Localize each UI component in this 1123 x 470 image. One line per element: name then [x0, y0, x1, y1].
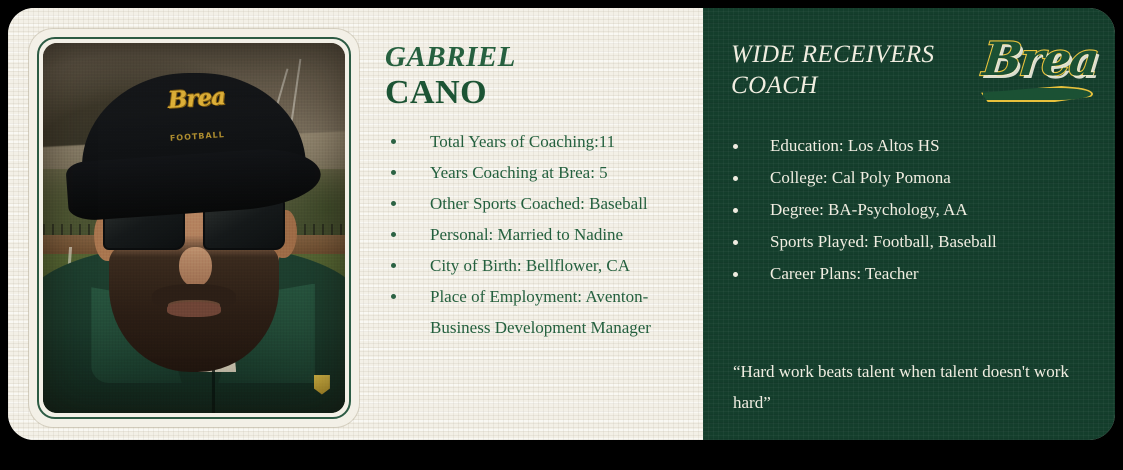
education-details-list: Education: Los Altos HS College: Cal Pol…	[725, 130, 1085, 290]
left-panel: Brea FOOTBALL GABRIEL CANO Total Years o…	[8, 8, 703, 440]
list-item: Other Sports Coached: Baseball	[385, 188, 690, 219]
coach-name-and-details: GABRIEL CANO Total Years of Coaching:11 …	[385, 42, 690, 343]
brea-logo-tail-icon	[981, 86, 1093, 102]
brea-logo: Brea	[979, 36, 1097, 108]
list-item: Career Plans: Teacher	[725, 258, 1085, 290]
list-item: City of Birth: Bellflower, CA	[385, 250, 690, 281]
list-item: Total Years of Coaching:11	[385, 126, 690, 157]
list-item: Place of Employment: Aventon- Business D…	[385, 281, 690, 343]
list-item: College: Cal Poly Pomona	[725, 162, 1085, 194]
list-item: Years Coaching at Brea: 5	[385, 157, 690, 188]
coach-first-name: GABRIEL	[385, 42, 690, 72]
list-item: Degree: BA-Psychology, AA	[725, 194, 1085, 226]
coach-role-title: WIDE RECEIVERS COACH	[731, 40, 986, 101]
photo-vignette	[43, 43, 345, 413]
coach-profile-card: Brea FOOTBALL GABRIEL CANO Total Years o…	[8, 8, 1115, 440]
coach-photo-border: Brea FOOTBALL	[37, 37, 351, 419]
coach-last-name: CANO	[385, 74, 690, 111]
coach-photo-frame: Brea FOOTBALL	[29, 29, 359, 427]
coach-profile-card-stage: Brea FOOTBALL GABRIEL CANO Total Years o…	[0, 0, 1123, 470]
list-item: Personal: Married to Nadine	[385, 219, 690, 250]
coach-quote: “Hard work beats talent when talent does…	[733, 356, 1083, 418]
coach-photo: Brea FOOTBALL	[43, 43, 345, 413]
list-item: Sports Played: Football, Baseball	[725, 226, 1085, 258]
right-panel: WIDE RECEIVERS COACH Brea Education: Los…	[703, 8, 1115, 440]
list-item: Education: Los Altos HS	[725, 130, 1085, 162]
personal-details-list: Total Years of Coaching:11 Years Coachin…	[385, 126, 690, 343]
brea-logo-wordmark: Brea	[981, 36, 1100, 82]
